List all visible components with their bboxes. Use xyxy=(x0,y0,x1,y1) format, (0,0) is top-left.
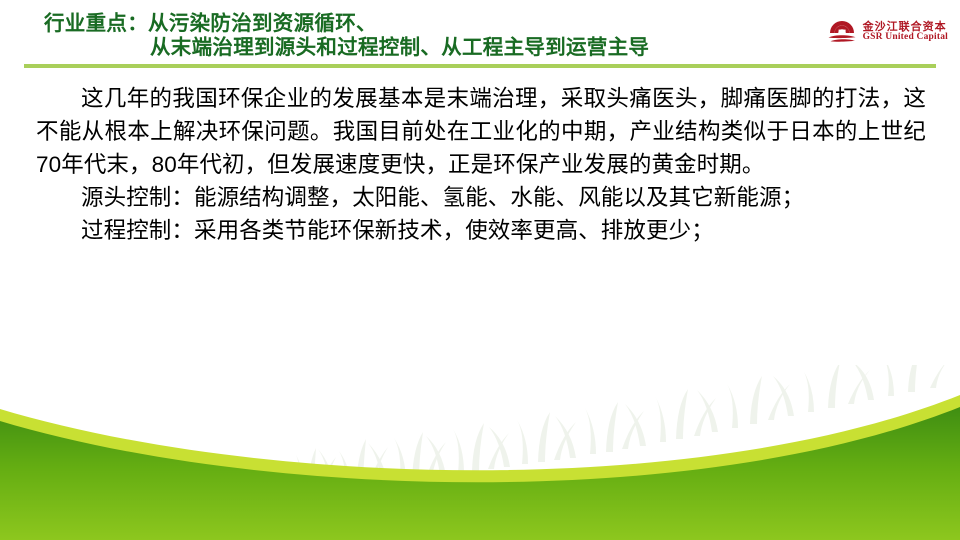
body-content: 这几年的我国环保企业的发展基本是末端治理，采取头痛医头，脚痛医脚的打法，这不能从… xyxy=(36,82,926,247)
grass-silhouettes xyxy=(0,365,960,540)
footer-decoration xyxy=(0,365,960,540)
title-line-1: 行业重点：从污染防治到资源循环、 xyxy=(44,12,774,36)
company-logo: 金沙江联合资本 GSR United Capital xyxy=(827,19,948,46)
logo-wordmark: 金沙江联合资本 GSR United Capital xyxy=(863,22,948,44)
slide-title: 行业重点：从污染防治到资源循环、 从末端治理到源头和过程控制、从工程主导到运营主… xyxy=(44,12,774,60)
curve-highlight xyxy=(0,395,960,492)
meadow-graphic xyxy=(0,365,960,540)
paragraph-source-control: 源头控制：能源结构调整，太阳能、氢能、水能、风能以及其它新能源； xyxy=(36,181,926,214)
green-band xyxy=(0,407,960,540)
paragraph-process-control: 过程控制：采用各类节能环保新技术，使效率更高、排放更少； xyxy=(36,214,926,247)
paragraph-overview: 这几年的我国环保企业的发展基本是末端治理，采取头痛医头，脚痛医脚的打法，这不能从… xyxy=(36,82,926,181)
grass-blades xyxy=(28,365,952,498)
title-line-2: 从末端治理到源头和过程控制、从工程主导到运营主导 xyxy=(44,36,774,60)
slide-canvas: 行业重点：从污染防治到资源循环、 从末端治理到源头和过程控制、从工程主导到运营主… xyxy=(0,0,960,540)
logo-name-en: GSR United Capital xyxy=(863,33,948,43)
title-underline-rule xyxy=(24,64,936,68)
red-sun-wave-logo-icon xyxy=(827,19,857,46)
grass-haze xyxy=(0,435,960,540)
